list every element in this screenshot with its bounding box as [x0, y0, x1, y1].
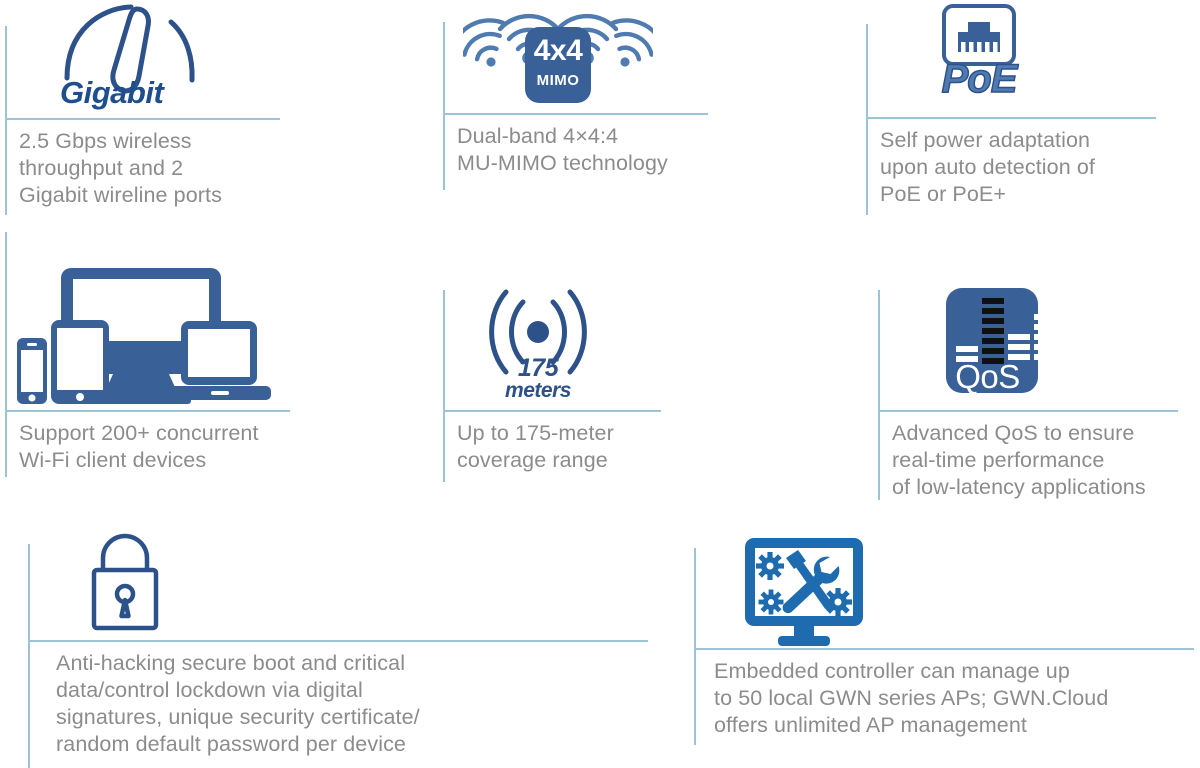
card-vertical-rule: [443, 22, 445, 190]
card-horizontal-rule: [694, 648, 1194, 650]
card-vertical-rule: [5, 232, 7, 477]
card-horizontal-rule: [443, 410, 661, 412]
card-horizontal-rule: [866, 117, 1156, 119]
gigabit-wordmark: Gigabit: [60, 75, 163, 111]
padlock-icon: [70, 528, 180, 640]
feature-card-qos: QoS Advanced QoS to ensure real-time per…: [878, 280, 1198, 500]
card-vertical-rule: [28, 544, 30, 768]
feature-card-security: Anti-hacking secure boot and critical da…: [28, 528, 648, 768]
feature-text-clients: Support 200+ concurrent Wi-Fi client dev…: [19, 420, 309, 474]
monitor-tools-controller-icon: [734, 530, 874, 648]
feature-text-qos: Advanced QoS to ensure real-time perform…: [892, 420, 1200, 501]
feature-text-controller: Embedded controller can manage up to 50 …: [714, 658, 1200, 739]
feature-text-security: Anti-hacking secure boot and critical da…: [56, 650, 666, 758]
feature-text-mimo: Dual-band 4×4:4 MU-MIMO technology: [457, 123, 717, 177]
feature-card-coverage: 175 meters Up to 175-meter coverage rang…: [443, 282, 661, 482]
feature-card-mimo: 4x4 MIMO Dual-band 4×4:4 MU-MIMO technol…: [443, 0, 708, 190]
card-horizontal-rule: [443, 113, 708, 115]
feature-card-controller: Embedded controller can manage up to 50 …: [694, 520, 1194, 745]
qos-badge-primary: QoS: [920, 358, 1055, 396]
card-horizontal-rule: [878, 410, 1178, 412]
feature-text-coverage: Up to 175-meter coverage range: [457, 420, 687, 474]
poe-wordmark: PoE: [914, 57, 1044, 102]
feature-card-clients: Support 200+ concurrent Wi-Fi client dev…: [5, 262, 290, 477]
card-horizontal-rule: [28, 640, 648, 642]
mimo-badge-secondary: MIMO: [463, 72, 653, 89]
card-vertical-rule: [866, 24, 868, 215]
card-vertical-rule: [694, 548, 696, 745]
feature-grid: Gigabit 2.5 Gbps wireless throughput and…: [0, 0, 1200, 768]
card-vertical-rule: [878, 290, 880, 500]
card-horizontal-rule: [5, 118, 280, 120]
card-horizontal-rule: [5, 410, 290, 412]
card-vertical-rule: [5, 26, 7, 215]
coverage-badge-secondary: meters: [473, 379, 603, 403]
feature-text-gigabit: 2.5 Gbps wireless throughput and 2 Gigab…: [19, 128, 284, 209]
multi-device-clients-icon: [13, 262, 293, 410]
feature-text-poe: Self power adaptation upon auto detectio…: [880, 127, 1165, 208]
feature-card-gigabit: Gigabit 2.5 Gbps wireless throughput and…: [5, 0, 280, 215]
mimo-badge-primary: 4x4: [463, 34, 653, 68]
card-vertical-rule: [443, 290, 445, 482]
feature-card-poe: PoE Self power adaptation upon auto dete…: [866, 0, 1156, 215]
